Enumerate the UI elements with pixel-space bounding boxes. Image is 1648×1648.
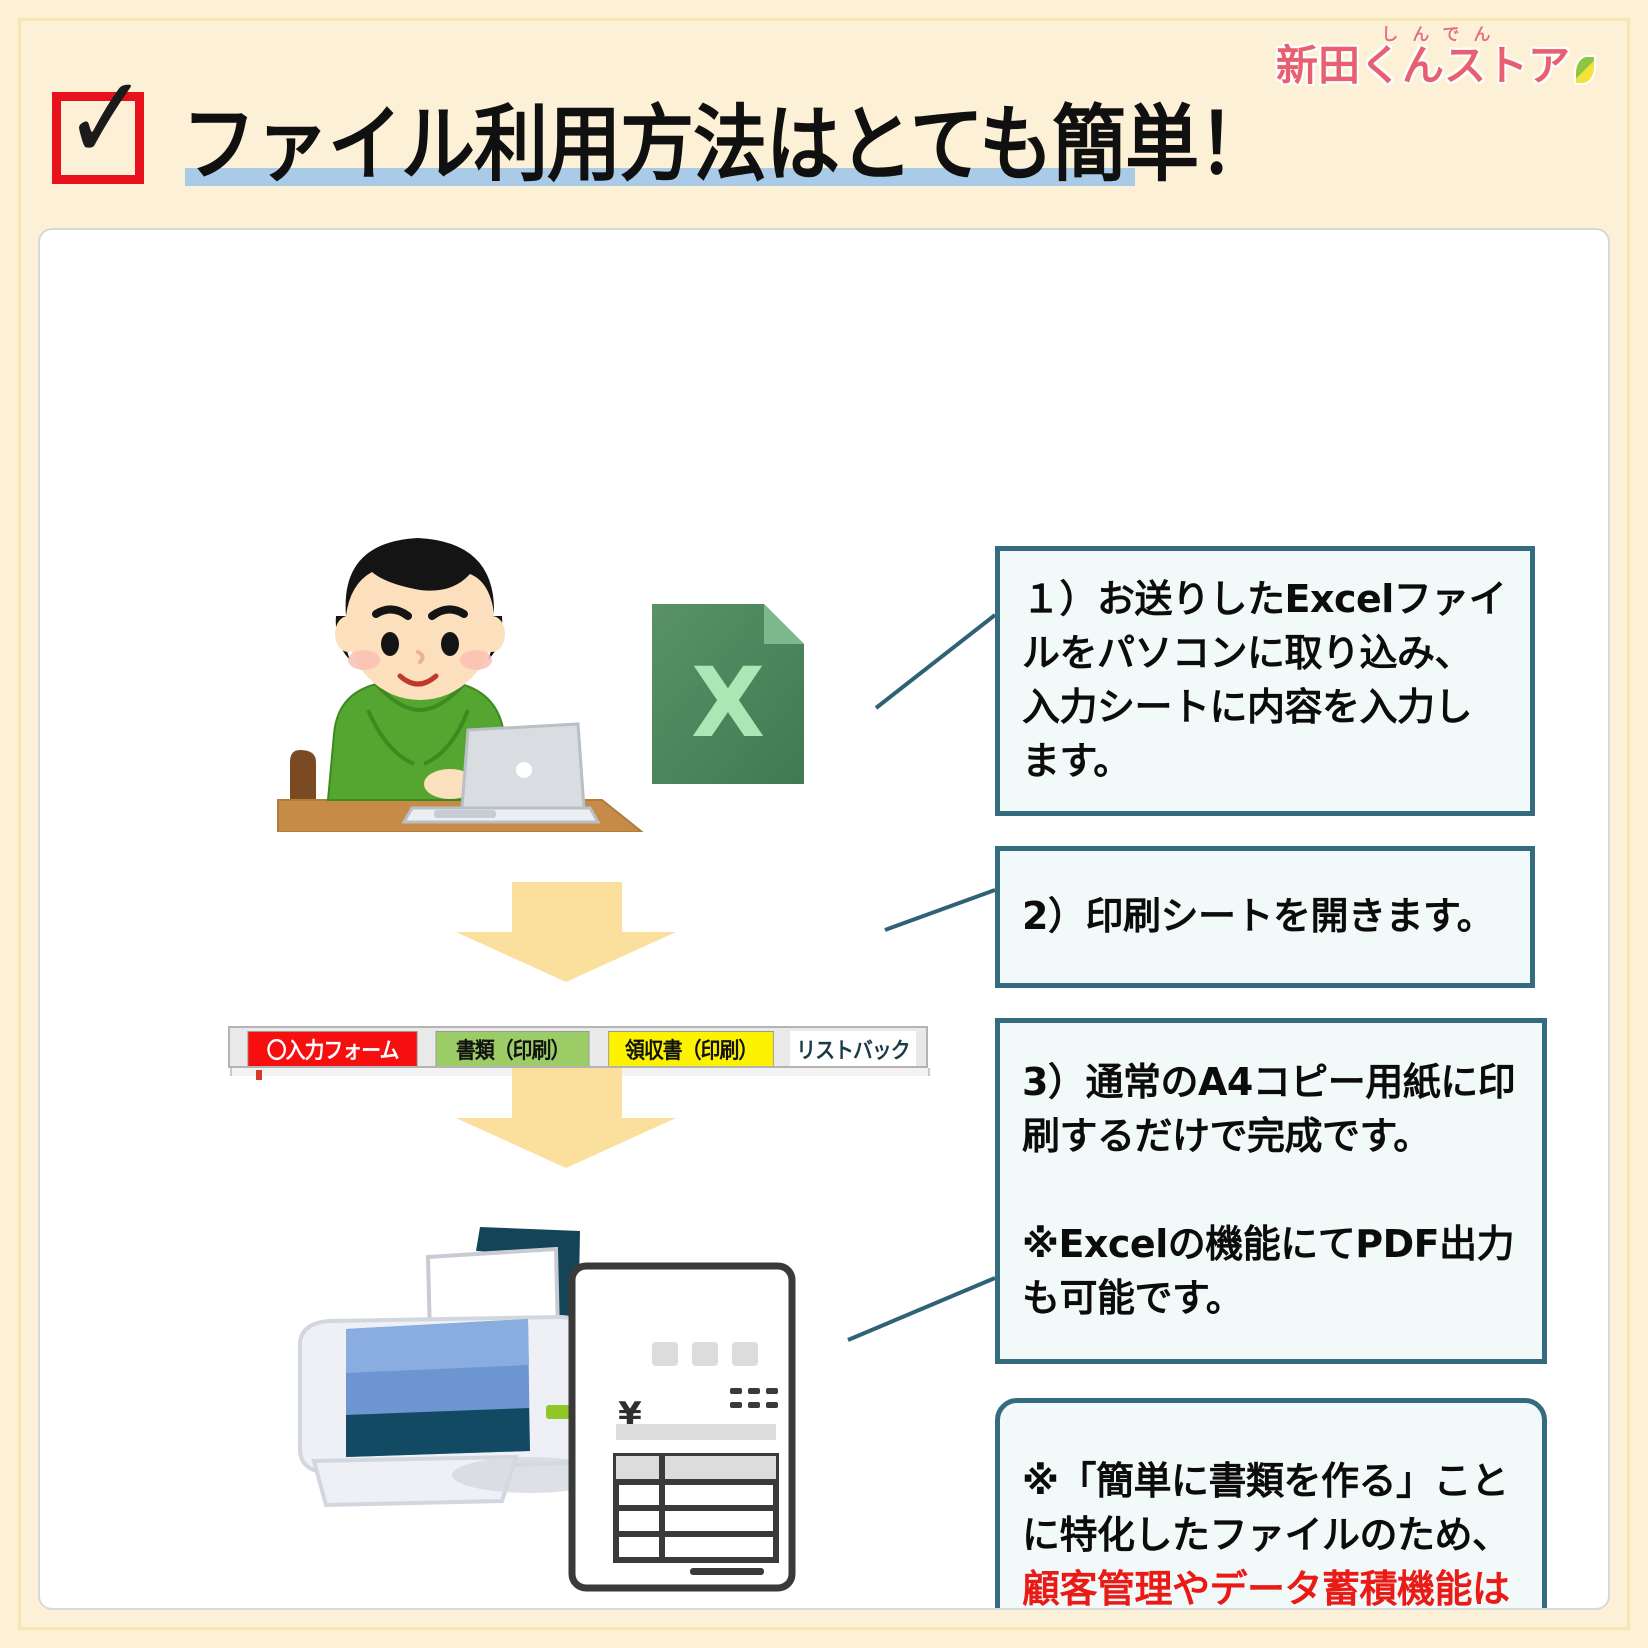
- step-3-line-2: ※Excelの機能にてPDF出力も可能です。: [1022, 1222, 1514, 1320]
- step-3-line-1: 3）通常のA4コピー用紙に印刷するだけで完成です。: [1022, 1060, 1515, 1158]
- poster-page: しんでん 新田くんストア ✓ ファイル利用方法はとても簡単！: [0, 0, 1648, 1648]
- printed-receipt-illustration: ¥: [568, 1262, 796, 1592]
- sheet-tab-receipt-print[interactable]: 領収書（印刷）: [608, 1031, 774, 1066]
- check-glyph: ✓: [64, 59, 166, 179]
- down-arrow-icon: [456, 1068, 676, 1168]
- step-1-callout: １）お送りしたExcelファイルをパソコンに取り込み、入力シートに内容を入力しま…: [995, 546, 1535, 816]
- step-3-body: 3）通常のA4コピー用紙に印刷するだけで完成です。 ※Excelの機能にてPDF…: [1022, 1056, 1520, 1326]
- logo-name: 新田くんストア: [1276, 42, 1570, 89]
- sheet-tab-document-print[interactable]: 書類（印刷）: [436, 1031, 590, 1066]
- page-title: ファイル利用方法はとても簡単！: [182, 78, 1271, 198]
- excel-sheet-tab-bar[interactable]: 〇入力フォーム 書類（印刷） 領収書（印刷） リストバック: [228, 1026, 928, 1068]
- excel-file-icon: X: [652, 604, 804, 784]
- notice-callout: ※「簡単に書類を作る」ことに特化したファイルのため、 顧客管理やデータ蓄積機能は…: [995, 1398, 1547, 1610]
- sheet-tab-input-form[interactable]: 〇入力フォーム: [247, 1031, 417, 1066]
- down-arrow-icon: [456, 882, 676, 982]
- person-at-laptop-illustration: [272, 512, 662, 832]
- notice-black-text: ※「簡単に書類を作る」ことに特化したファイルのため、: [1022, 1459, 1510, 1557]
- sheet-tab-list-back[interactable]: リストバック: [790, 1031, 916, 1066]
- step-3-callout: 3）通常のA4コピー用紙に印刷するだけで完成です。 ※Excelの機能にてPDF…: [995, 1018, 1547, 1364]
- leaf-icon: [1574, 55, 1596, 85]
- notice-red-text: 顧客管理やデータ蓄積機能はありません。: [1022, 1563, 1520, 1610]
- page-header: ✓ ファイル利用方法はとても簡単！: [52, 84, 1271, 191]
- checked-checkbox-icon: ✓: [52, 92, 144, 184]
- content-card: X 〇入力フォーム 書類（印刷） 領収書（印刷） リストバック: [38, 228, 1610, 1610]
- tab-bar-marker: [256, 1070, 262, 1080]
- logo-furigana: しんでん: [1290, 26, 1596, 43]
- svg-text:X: X: [691, 647, 765, 759]
- store-logo: しんでん 新田くんストア: [1276, 26, 1596, 87]
- step-2-callout: 2）印刷シートを開きます。: [995, 846, 1535, 988]
- notice-body: ※「簡単に書類を作る」ことに特化したファイルのため、 顧客管理やデータ蓄積機能は…: [1022, 1455, 1520, 1610]
- step-2-text: 2）印刷シートを開きます。: [1022, 890, 1508, 944]
- step-1-text: １）お送りしたExcelファイルをパソコンに取り込み、入力シートに内容を入力しま…: [1022, 573, 1508, 789]
